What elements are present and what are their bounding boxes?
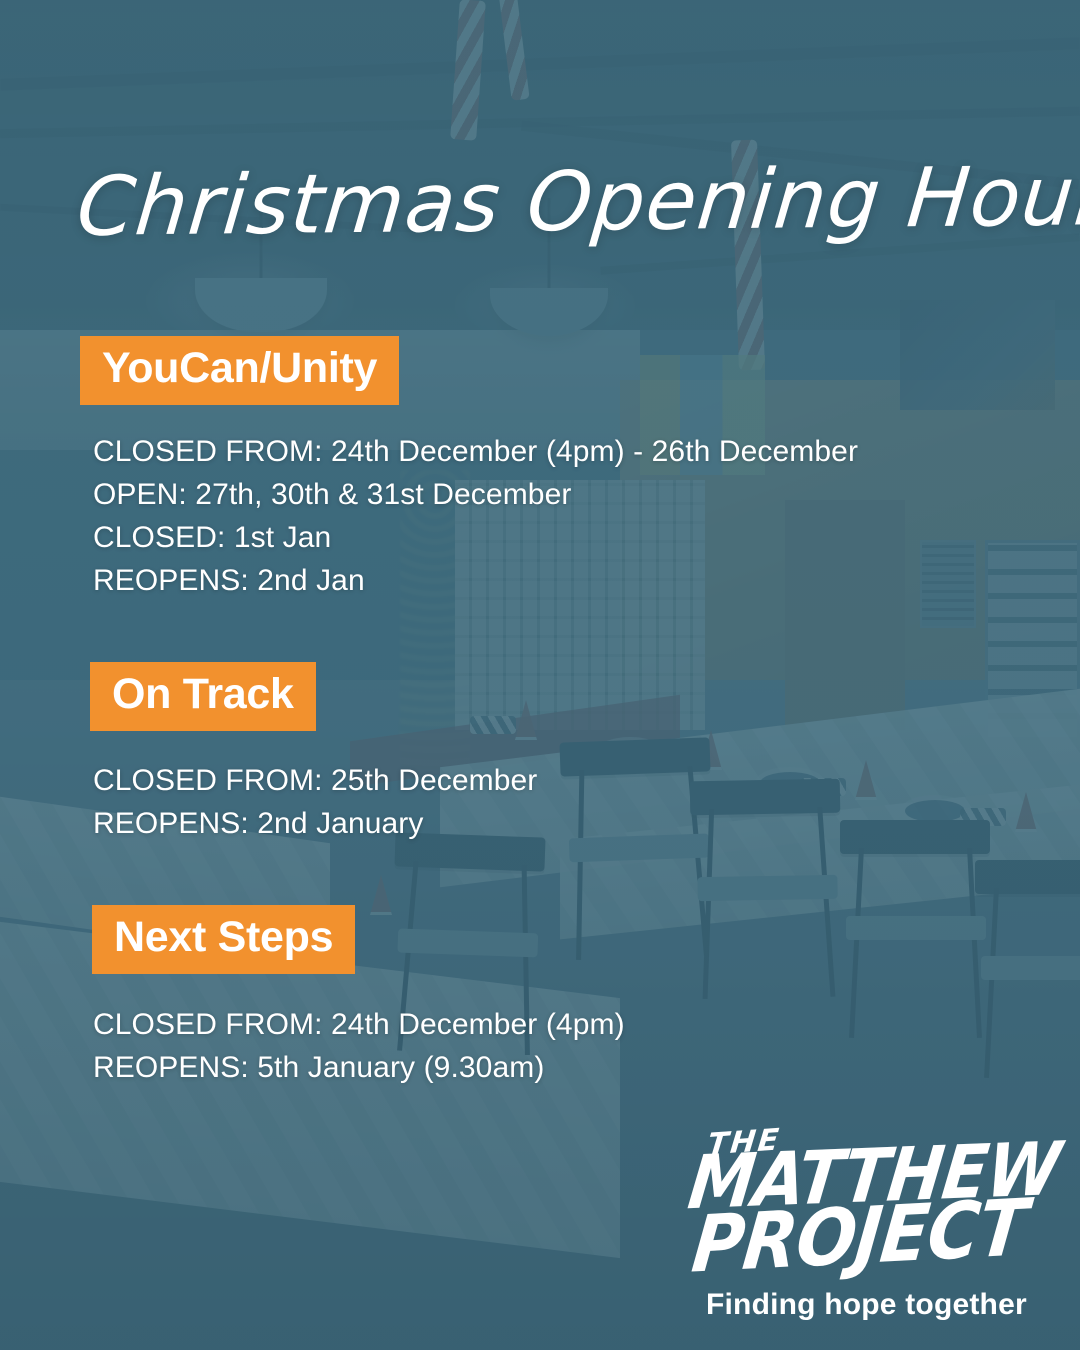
poster-content: Christmas Opening Hours YouCan/Unity CLO… bbox=[0, 0, 1080, 1350]
schedule-line: REOPENS: 5th January (9.30am) bbox=[93, 1046, 1080, 1089]
section-badge-on-track[interactable]: On Track bbox=[90, 662, 316, 731]
matthew-project-logo: THE MATTHEW PROJECT Finding hope togethe… bbox=[690, 1125, 1035, 1322]
logo-word-project: PROJECT bbox=[689, 1196, 1039, 1278]
schedule-line: CLOSED FROM: 24th December (4pm) bbox=[93, 1003, 1080, 1046]
section-lines-youcan-unity: CLOSED FROM: 24th December (4pm) - 26th … bbox=[0, 430, 1080, 602]
badge-wrap: YouCan/Unity bbox=[0, 336, 1080, 405]
logo-tagline: Finding hope together bbox=[706, 1288, 1035, 1322]
page-title: Christmas Opening Hours bbox=[73, 150, 1023, 255]
badge-wrap: On Track bbox=[0, 662, 1080, 731]
section-on-track: On Track CLOSED FROM: 25th December REOP… bbox=[0, 662, 1080, 845]
section-badge-next-steps[interactable]: Next Steps bbox=[92, 905, 355, 974]
schedule-line: CLOSED FROM: 24th December (4pm) - 26th … bbox=[93, 430, 1080, 473]
schedule-line: REOPENS: 2nd Jan bbox=[93, 559, 1080, 602]
poster-canvas: Christmas Opening Hours YouCan/Unity CLO… bbox=[0, 0, 1080, 1350]
schedule-line: REOPENS: 2nd January bbox=[93, 802, 1080, 845]
section-next-steps: Next Steps CLOSED FROM: 24th December (4… bbox=[0, 905, 1080, 1089]
section-lines-on-track: CLOSED FROM: 25th December REOPENS: 2nd … bbox=[0, 759, 1080, 845]
section-lines-next-steps: CLOSED FROM: 24th December (4pm) REOPENS… bbox=[0, 1003, 1080, 1089]
schedule-line: CLOSED FROM: 25th December bbox=[93, 759, 1080, 802]
badge-wrap: Next Steps bbox=[0, 905, 1080, 974]
section-youcan-unity: YouCan/Unity CLOSED FROM: 24th December … bbox=[0, 336, 1080, 602]
schedule-line: CLOSED: 1st Jan bbox=[93, 516, 1080, 559]
section-badge-youcan-unity[interactable]: YouCan/Unity bbox=[80, 336, 399, 405]
schedule-line: OPEN: 27th, 30th & 31st December bbox=[93, 473, 1080, 516]
